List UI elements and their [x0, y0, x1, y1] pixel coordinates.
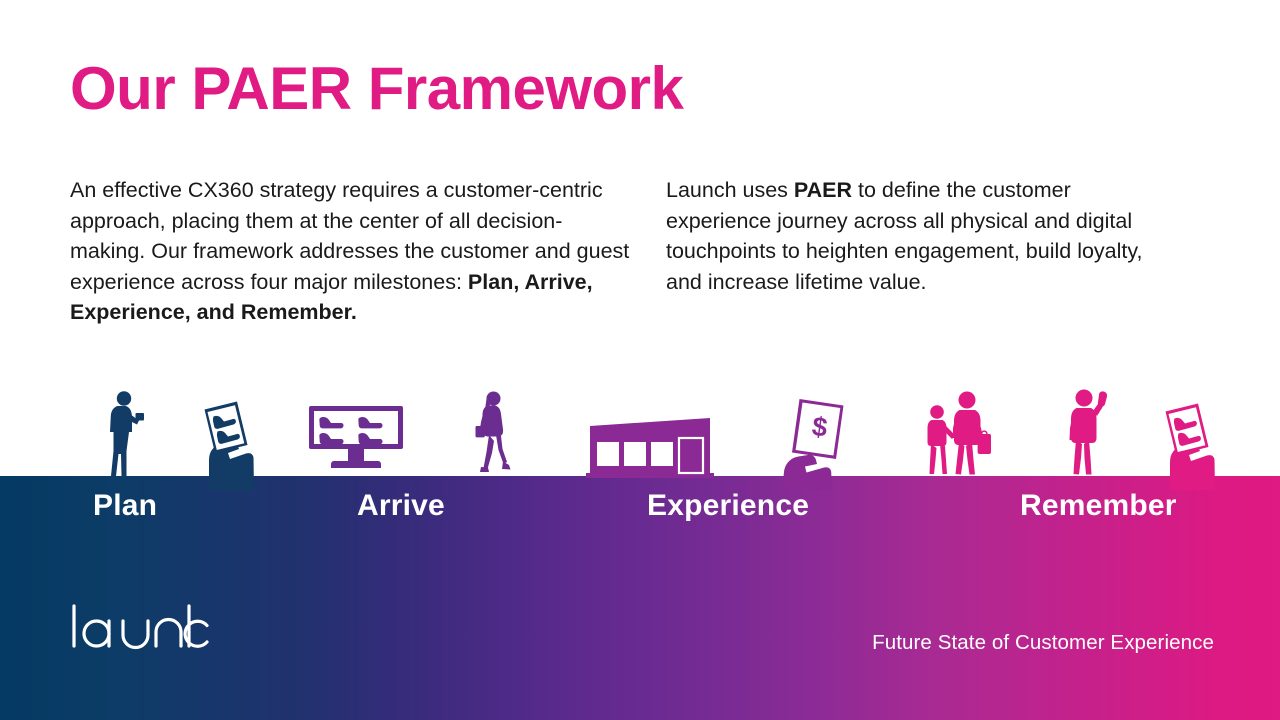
page-title: Our PAER Framework	[70, 57, 683, 120]
intro-right-bold: PAER	[794, 178, 852, 202]
desktop-monitor-shoes-icon	[309, 406, 403, 468]
footer-caption: Future State of Customer Experience	[872, 631, 1214, 655]
milestone-label-plan: Plan	[93, 489, 157, 523]
slide-canvas: Our PAER Framework An effective CX360 st…	[0, 0, 1280, 720]
walking-woman-icon	[476, 392, 511, 473]
intro-paragraph-right: Launch uses PAER to define the customer …	[666, 175, 1166, 297]
hand-holding-phone-shoes-icon	[205, 402, 255, 491]
adult-and-child-shopping-icon	[928, 392, 992, 475]
intro-paragraph-left: An effective CX360 strategy requires a c…	[70, 175, 630, 328]
person-holding-phone-icon	[1070, 390, 1108, 475]
milestone-label-remember: Remember	[1020, 489, 1177, 523]
retail-store-building-icon	[586, 418, 714, 478]
milestone-label-arrive: Arrive	[357, 489, 445, 523]
journey-illustrations: $	[0, 380, 1280, 490]
intro-right-text-before: Launch uses	[666, 178, 794, 202]
hand-holding-phone-shoes-icon	[1166, 404, 1216, 491]
launch-logo	[70, 604, 225, 652]
hand-holding-phone-dollar-icon: $	[782, 399, 844, 490]
milestone-label-experience: Experience	[647, 489, 809, 523]
person-with-phone-icon	[110, 391, 144, 476]
